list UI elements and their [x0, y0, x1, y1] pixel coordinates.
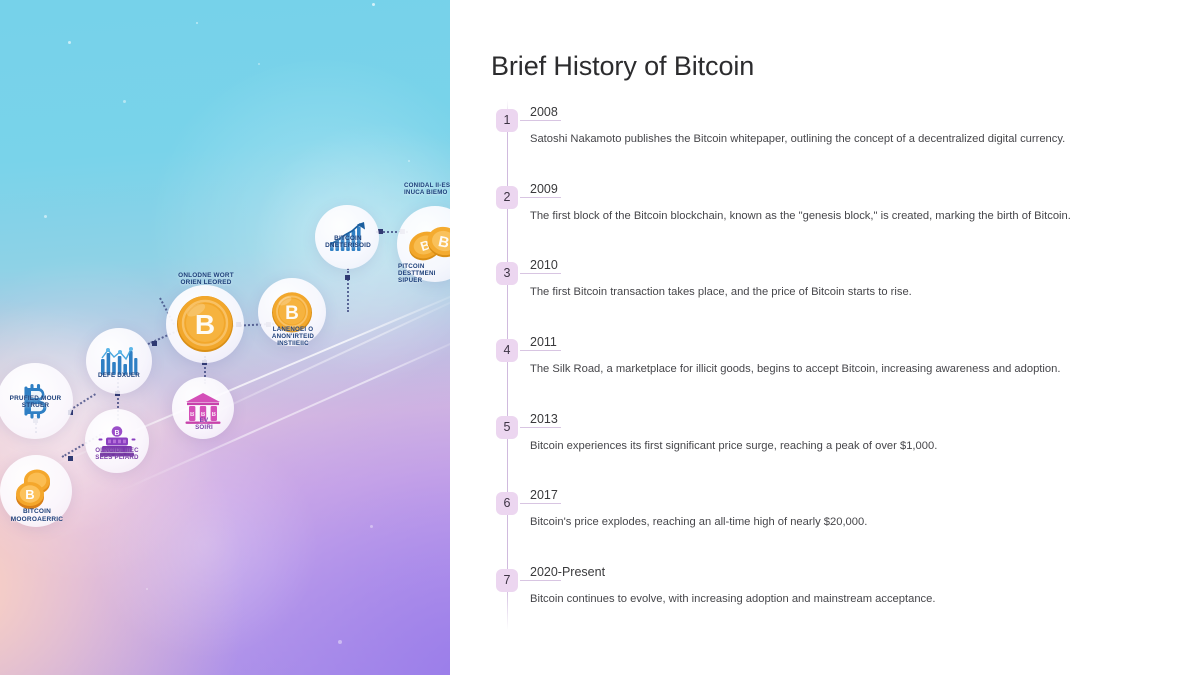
bitcoin-coin-sm-node: B	[258, 278, 326, 346]
timeline-connector	[520, 580, 561, 581]
decorative-sparkle	[372, 3, 375, 6]
timeline-connector	[520, 120, 561, 121]
timeline-description: The first Bitcoin transaction takes plac…	[530, 284, 912, 300]
timeline-year: 2009	[530, 182, 558, 196]
timeline-step-badge[interactable]: 1	[496, 109, 518, 132]
connector-dot	[152, 341, 157, 346]
timeline-description: The first block of the Bitcoin blockchai…	[530, 208, 1071, 224]
connector-dot	[68, 456, 73, 461]
timeline-description: The Silk Road, a marketplace for illicit…	[530, 361, 1060, 377]
bitcoin-coins-node: B	[0, 455, 72, 527]
growth-chart-icon	[328, 222, 366, 252]
timeline-year: 2008	[530, 105, 558, 119]
bitcoin-symbol-icon	[16, 382, 54, 420]
bank-node: BBB	[172, 377, 234, 439]
decorative-sparkle	[338, 640, 342, 644]
page-title: Brief History of Bitcoin	[491, 51, 754, 82]
timeline-year: 2020-Present	[530, 565, 605, 579]
bitcoin-coin-stack-icon: B	[13, 469, 59, 513]
bitcoin-journey-illustration: PRUFIED MOUR STRUER B BITCOIN MOOROAERRI…	[0, 0, 450, 675]
mining-rig-icon: B	[98, 425, 136, 457]
timeline-description: Satoshi Nakamoto publishes the Bitcoin w…	[530, 131, 1065, 147]
bar-chart-icon	[100, 345, 138, 377]
timeline-year: 2013	[530, 412, 558, 426]
timeline-description: Bitcoin's price explodes, reaching an al…	[530, 514, 867, 530]
bitcoin-symbol-node	[0, 363, 73, 439]
timeline-connector	[520, 197, 561, 198]
timeline-connector	[520, 350, 561, 351]
timeline-description: Bitcoin continues to evolve, with increa…	[530, 591, 935, 607]
timeline-step-badge[interactable]: 3	[496, 262, 518, 285]
timeline-step-badge[interactable]: 2	[496, 186, 518, 209]
timeline-description: Bitcoin experiences its first significan…	[530, 438, 937, 454]
mining-rig-node: B	[85, 409, 149, 473]
timeline-step-badge[interactable]: 5	[496, 416, 518, 439]
timeline-step-badge[interactable]: 4	[496, 339, 518, 362]
bitcoin-coin-icon: B	[270, 290, 314, 334]
svg-text:B: B	[190, 412, 195, 418]
coins-pair-node: B B	[397, 206, 450, 282]
timeline-step-badge[interactable]: 7	[496, 569, 518, 592]
growth-chart-node	[315, 205, 379, 269]
connector-line	[69, 393, 96, 411]
timeline-connector	[520, 503, 561, 504]
timeline-year: 2017	[530, 488, 558, 502]
bitcoin-coin-pair-icon: B B	[406, 222, 450, 266]
decorative-ribbon	[120, 327, 450, 492]
bitcoin-coin-icon: B	[175, 294, 235, 354]
svg-text:B: B	[114, 430, 119, 437]
illustration-heading-label: CONIDAL II-ES INUCA BIEMO	[404, 182, 450, 196]
svg-text:B: B	[212, 412, 217, 418]
timeline-connector	[520, 427, 561, 428]
decorative-sparkle	[68, 41, 71, 44]
decorative-sparkle	[196, 22, 198, 24]
timeline-step-badge[interactable]: 6	[496, 492, 518, 515]
timeline-year: 2010	[530, 258, 558, 272]
bar-chart-node	[86, 328, 152, 394]
bank-building-icon: BBB	[184, 392, 222, 424]
connector-dot	[345, 275, 350, 280]
svg-text:B: B	[285, 303, 299, 324]
decorative-sparkle	[258, 63, 260, 65]
decorative-sparkle	[44, 215, 47, 218]
slide-root: PRUFIED MOUR STRUER B BITCOIN MOOROAERRI…	[0, 0, 1200, 675]
decorative-sparkle	[123, 100, 126, 103]
connector-line	[347, 268, 349, 312]
svg-text:B: B	[201, 412, 206, 418]
content-panel: Brief History of Bitcoin 1 2008 Satoshi …	[450, 0, 1200, 675]
timeline-year: 2011	[530, 335, 557, 349]
decorative-sparkle	[408, 160, 410, 162]
decorative-sparkle	[146, 588, 148, 590]
svg-text:B: B	[25, 487, 34, 502]
bitcoin-coin-big-node: B	[166, 285, 244, 363]
decorative-sparkle	[370, 525, 373, 528]
timeline-connector	[520, 273, 561, 274]
timeline-rail	[507, 100, 509, 630]
